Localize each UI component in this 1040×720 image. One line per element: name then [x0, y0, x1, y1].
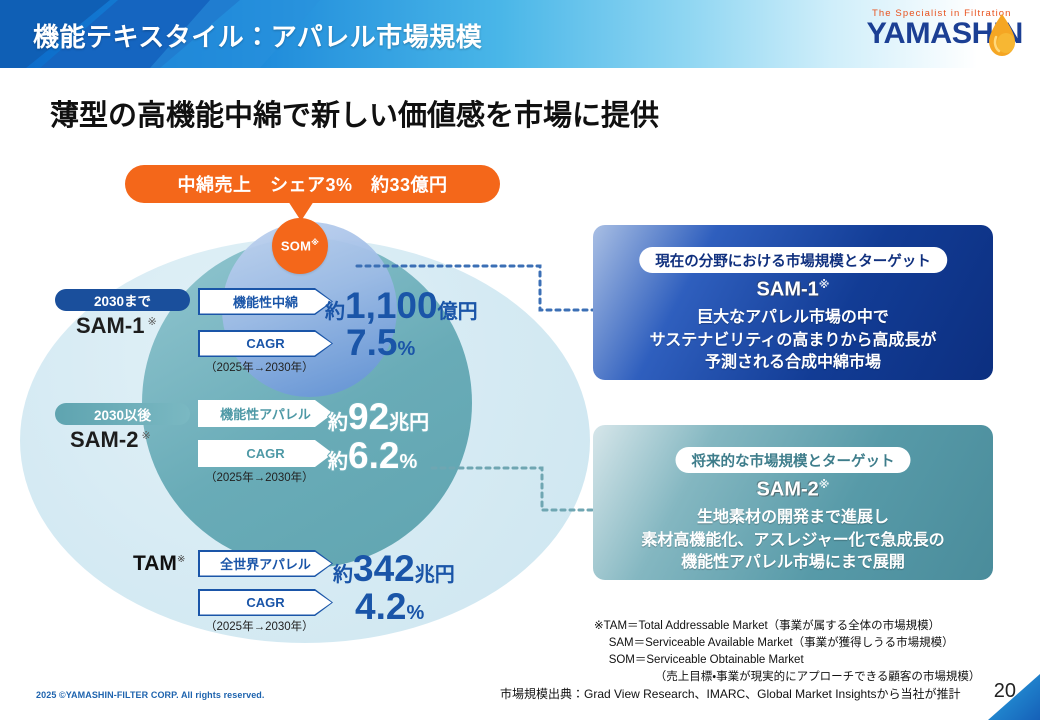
som-banner: 中綿売上 シェア3% 約33億円	[125, 165, 500, 203]
sam2-period-pill: 2030以後	[55, 403, 190, 425]
yamashin-logo: The Specialist in Filtration YAMASHIN	[864, 8, 1024, 60]
sam1-cagr-value: 7.5%	[346, 324, 415, 361]
sam1-panel-caption: 現在の分野における市場規模とターゲット	[639, 247, 947, 273]
sam2-value: 約92兆円	[328, 398, 429, 435]
som-circle: SOM※	[272, 218, 328, 274]
connector-sam2	[430, 460, 600, 518]
tam-label: TAM※	[133, 552, 185, 576]
sam1-period-pill: 2030まで	[55, 289, 190, 311]
source-text: 市場規模出典：Grad View Research、IMARC、Global M…	[500, 685, 961, 702]
tam-year-note: （2025年→2030年）	[205, 618, 314, 634]
copyright-text: 2025 ©YAMASHIN-FILTER CORP. All rights r…	[36, 690, 265, 700]
slide-root: 機能テキスタイル：アパレル市場規模 The Specialist in Filt…	[0, 0, 1040, 720]
sam1-chip-cagr-label: CAGR	[200, 332, 332, 356]
sam2-panel-line: 機能性アパレル市場にまで展開	[593, 552, 993, 575]
som-label: SOM※	[281, 238, 319, 253]
sam2-chip-cagr-label: CAGR	[200, 442, 332, 466]
page-title: 薄型の高機能中綿で新しい価値感を市場に提供	[50, 92, 659, 134]
tam-cagr-value: 4.2%	[355, 588, 424, 625]
sam2-year-note: （2025年→2030年）	[205, 469, 314, 485]
sam1-panel-line: サステナビリティの高まりから高成長が	[593, 330, 993, 353]
sam1-label: SAM-1※	[76, 313, 157, 339]
tam-chip-cagr-label: CAGR	[200, 591, 332, 615]
sam1-year-note: （2025年→2030年）	[205, 359, 314, 375]
sam2-label: SAM-2※	[70, 427, 151, 453]
sam2-panel-caption: 将来的な市場規模とターゲット	[676, 447, 911, 473]
sam1-panel-body: 巨大なアパレル市場の中で サステナビリティの高まりから高成長が 予測される合成中…	[593, 307, 993, 375]
definitions-footnote: ※TAM＝Total Addressable Market（事業が属する全体の市…	[594, 618, 980, 686]
sam2-panel-body: 生地素材の開発まで進展し 素材高機能化、アスレジャー化で急成長の 機能性アパレル…	[593, 507, 993, 575]
sam1-value: 約1,100億円	[325, 287, 478, 324]
sam1-detail-panel: 現在の分野における市場規模とターゲット SAM-1※ 巨大なアパレル市場の中で …	[593, 225, 993, 380]
header-title: 機能テキスタイル：アパレル市場規模	[33, 17, 482, 54]
sam2-chip-main-label: 機能性アパレル	[200, 402, 332, 426]
sam2-panel-title: SAM-2※	[757, 478, 830, 502]
sam1-panel-title: SAM-1※	[757, 278, 830, 302]
oil-drop-icon	[982, 12, 1022, 58]
sam2-panel-line: 生地素材の開発まで進展し	[593, 507, 993, 530]
sam1-panel-line: 予測される合成中綿市場	[593, 352, 993, 375]
sam1-chip-main-label: 機能性中綿	[200, 290, 332, 314]
sam2-panel-line: 素材高機能化、アスレジャー化で急成長の	[593, 530, 993, 553]
tam-chip-main-label: 全世界アパレル	[200, 552, 332, 576]
sam1-panel-line: 巨大なアパレル市場の中で	[593, 307, 993, 330]
sam2-detail-panel: 将来的な市場規模とターゲット SAM-2※ 生地素材の開発まで進展し 素材高機能…	[593, 425, 993, 580]
tam-value: 約342兆円	[333, 550, 455, 587]
sam2-cagr-value: 約6.2%	[328, 437, 417, 474]
